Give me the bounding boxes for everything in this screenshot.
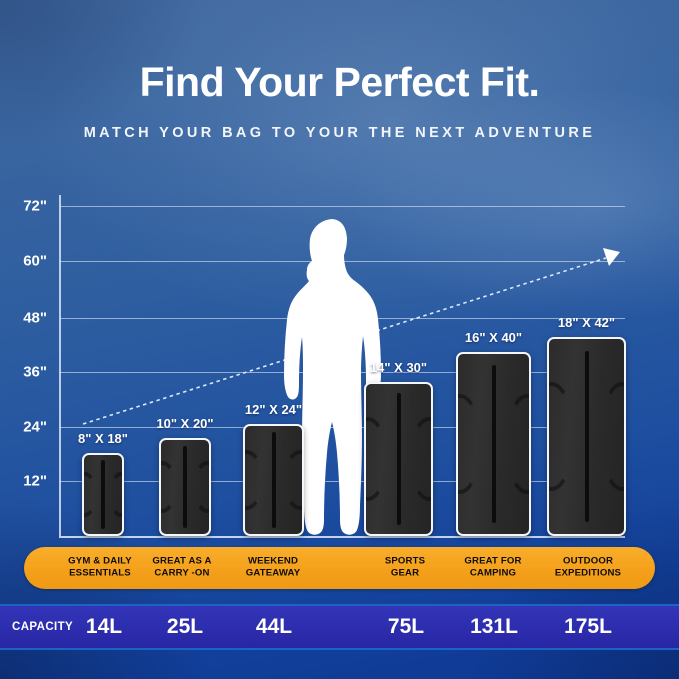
- header: Find Your Perfect Fit. MATCH YOUR BAG TO…: [0, 0, 679, 141]
- bag-spine-icon: [101, 460, 105, 530]
- bag-arc-right-icon: [505, 394, 531, 495]
- y-axis-tick-label: 60": [1, 253, 47, 270]
- capacity-value: 44L: [256, 615, 292, 639]
- bag-spine-icon: [272, 432, 276, 527]
- bag-bar[interactable]: 18" X 42": [547, 337, 626, 536]
- bag-arc-right-icon: [193, 461, 211, 514]
- bag-arc-left-icon: [456, 394, 482, 495]
- bag-size-label: 8" X 18": [78, 431, 128, 446]
- bag-arc-left-icon: [243, 450, 264, 510]
- infographic-canvas: Find Your Perfect Fit. MATCH YOUR BAG TO…: [0, 0, 679, 679]
- bag-size-label: 14" X 30": [370, 360, 427, 375]
- capacity-band-title: CAPACITY: [12, 621, 73, 633]
- bag-bar[interactable]: 10" X 20": [159, 438, 211, 536]
- bag-arc-right-icon: [109, 472, 124, 516]
- capacity-value: 75L: [388, 615, 424, 639]
- y-axis-tick-label: 36": [1, 364, 47, 381]
- page-title: Find Your Perfect Fit.: [0, 62, 679, 103]
- y-axis-line: [59, 195, 61, 536]
- bag-body: [456, 352, 531, 536]
- bag-arc-left-icon: [364, 417, 388, 501]
- y-axis-tick-label: 72": [1, 198, 47, 215]
- category-label: SPORTS GEAR: [385, 556, 425, 581]
- bag-arc-right-icon: [599, 382, 627, 491]
- bag-body: [82, 453, 124, 536]
- bag-spine-icon: [585, 351, 589, 523]
- bag-bar[interactable]: 12" X 24": [243, 424, 304, 536]
- bag-body: [547, 337, 626, 536]
- bag-arc-left-icon: [547, 382, 575, 491]
- capacity-value: 25L: [167, 615, 203, 639]
- bag-size-label: 16" X 40": [465, 330, 522, 345]
- bag-size-label: 18" X 42": [558, 315, 615, 330]
- capacity-value: 131L: [470, 615, 518, 639]
- bag-bar[interactable]: 8" X 18": [82, 453, 124, 536]
- bag-spine-icon: [397, 393, 401, 525]
- capacity-band: CAPACITY 14L25L44L75L131L175L: [0, 604, 679, 650]
- y-axis-tick-label: 48": [1, 310, 47, 327]
- bag-spine-icon: [183, 446, 187, 529]
- y-axis-labels: 72"60"48"36"24"12": [0, 195, 59, 536]
- capacity-value: 175L: [564, 615, 612, 639]
- capacity-value: 14L: [86, 615, 122, 639]
- y-axis-tick-label: 12": [1, 473, 47, 490]
- gridline: [59, 206, 625, 207]
- category-label: GREAT FOR CAMPING: [464, 556, 521, 581]
- bag-arc-right-icon: [409, 417, 433, 501]
- page-subtitle: MATCH YOUR BAG TO YOUR THE NEXT ADVENTUR…: [0, 125, 679, 141]
- category-label: WEEKEND GATEAWAY: [246, 556, 301, 581]
- y-axis-tick-label: 24": [1, 419, 47, 436]
- bag-spine-icon: [492, 365, 496, 523]
- bag-arc-left-icon: [159, 461, 177, 514]
- category-label: GYM & DAILY ESSENTIALS: [68, 556, 132, 581]
- bag-arc-right-icon: [283, 450, 304, 510]
- bag-arc-left-icon: [82, 472, 97, 516]
- bag-body: [364, 382, 433, 536]
- category-label: GREAT AS A CARRY -ON: [152, 556, 211, 581]
- category-label: OUTDOOR EXPEDITIONS: [555, 556, 621, 581]
- bag-bar[interactable]: 16" X 40": [456, 352, 531, 536]
- bag-size-label: 10" X 20": [156, 416, 213, 431]
- bag-bar[interactable]: 14" X 30": [364, 382, 433, 536]
- bag-body: [159, 438, 211, 536]
- bag-body: [243, 424, 304, 536]
- bag-size-label: 12" X 24": [245, 402, 302, 417]
- category-band: GYM & DAILY ESSENTIALSGREAT AS A CARRY -…: [24, 547, 655, 589]
